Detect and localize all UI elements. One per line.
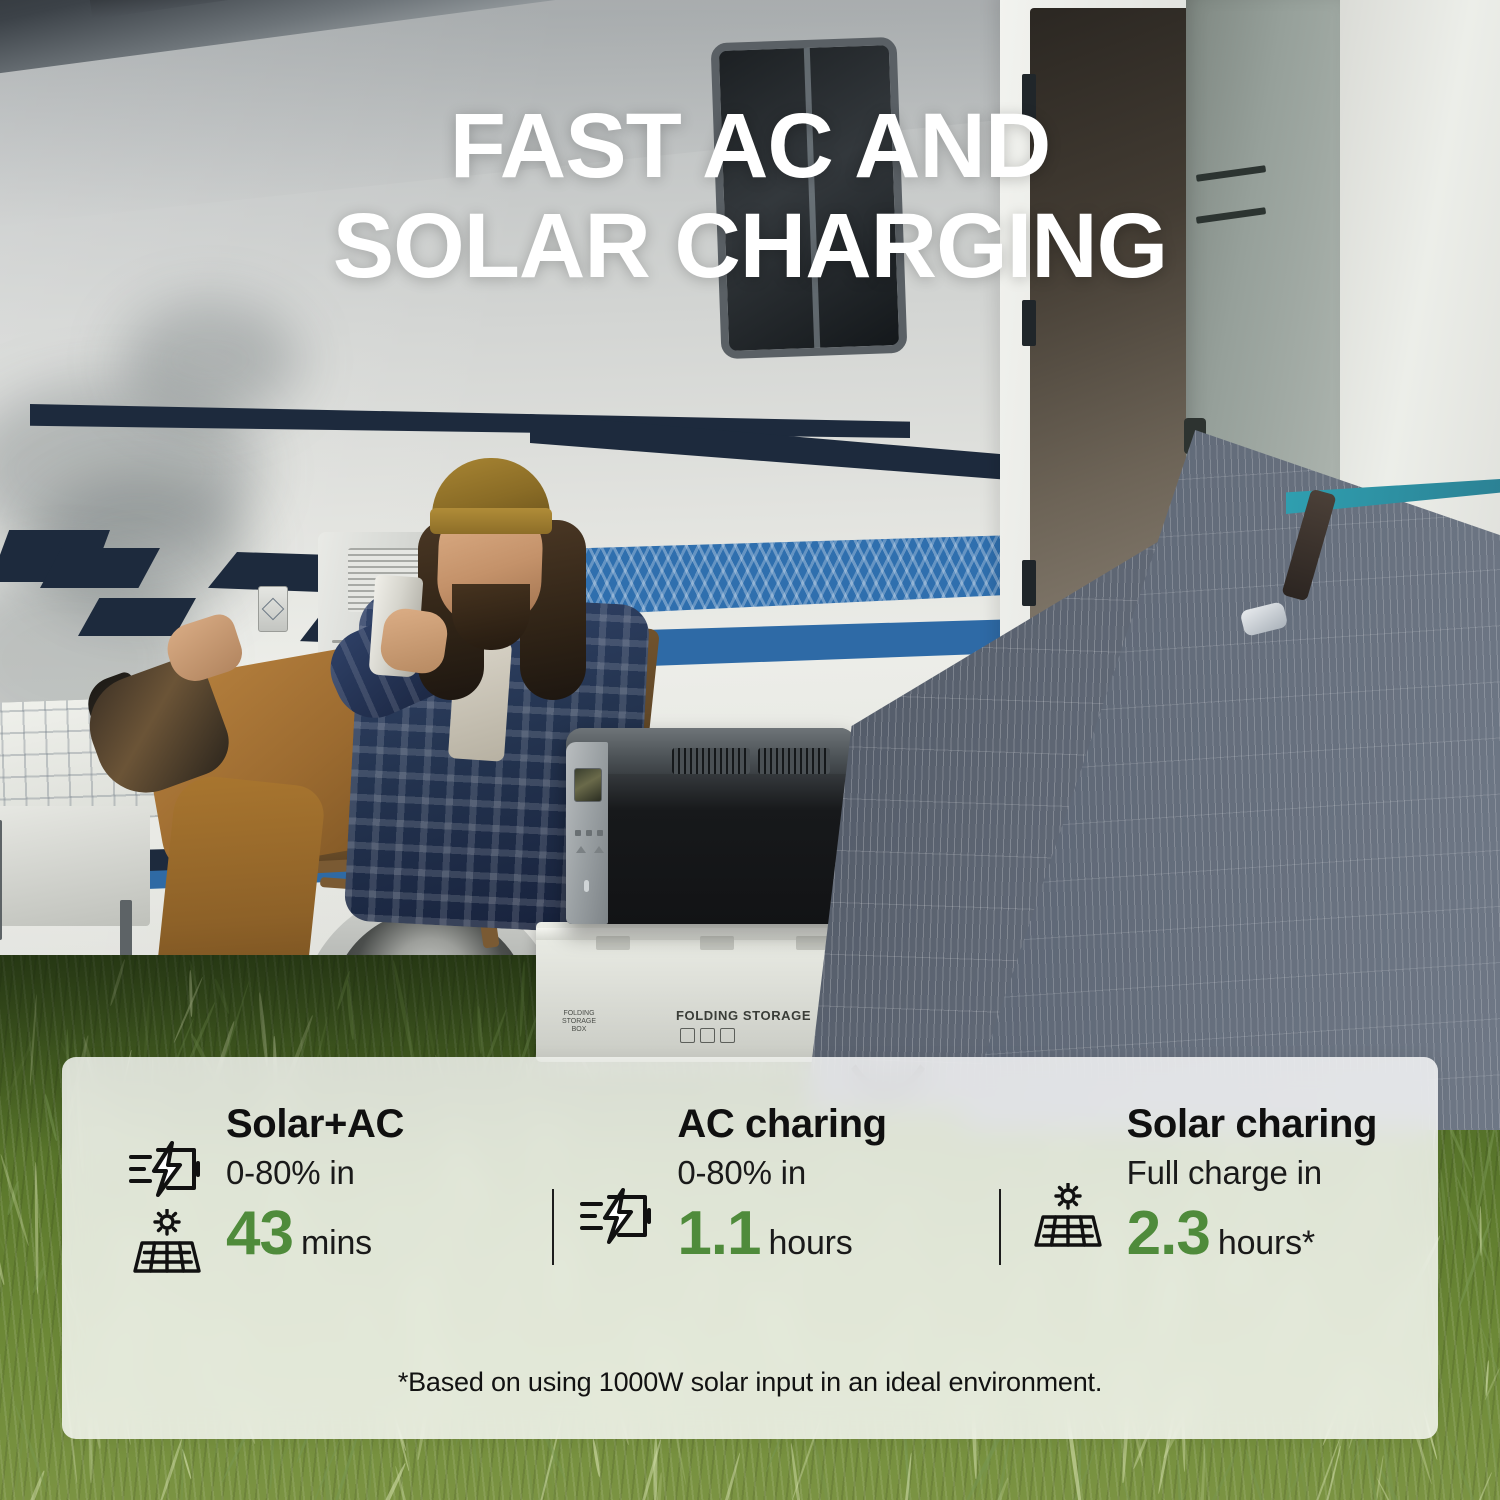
rv-door-hinge [1022,560,1036,606]
grass-blade [158,1438,183,1500]
stat-subtitle: 0-80% in [677,1147,988,1199]
grass-blade [13,1404,49,1494]
ac-charge-icon [579,1188,657,1244]
solar-panel-cable [826,840,950,1094]
stat-divider [999,1189,1001,1265]
grass-blade [810,1436,834,1500]
stat-subtitle: Full charge in [1127,1147,1438,1199]
grass-blade [526,1460,537,1500]
stat-solar-plus-ac: Solar+AC 0-80% in 43mins [62,1101,537,1285]
stat-title: Solar charing [1127,1101,1438,1147]
grass-blade [1245,1449,1277,1500]
stat-divider [552,1189,554,1265]
pictogram-icon [700,1028,715,1043]
grass-blade [394,1465,426,1500]
rv-door-hinge [1022,300,1036,346]
footnote: *Based on using 1000W solar input in an … [0,1367,1500,1398]
stat-solar-charging: Solar charing Full charge in 2.3hours* [989,1101,1438,1285]
storage-box-label: FOLDING STORAGE [676,1008,811,1023]
storage-box-side-label: FOLDING STORAGE BOX [556,1010,602,1034]
power-station-vent [758,748,830,774]
grass-blade [323,1468,333,1500]
table-leg [0,820,2,940]
grass-blade [706,1452,742,1500]
charging-stats-row: Solar+AC 0-80% in 43mins [62,1101,1438,1331]
product-marketing-image: FOLDING STORAGE BOX FOLDING STORAGE FAS [0,0,1500,1500]
power-station-lcd-display [574,768,602,802]
grass-blade [0,1186,5,1285]
stat-value-row: 43mins [226,1199,537,1285]
rv-wall-right-section [1340,0,1500,550]
storage-box-latch [796,936,830,950]
grass-blade [365,1439,374,1500]
power-station-arrow-icon [594,846,604,853]
grass-blade [1188,1447,1239,1500]
ac-charge-icon [128,1141,206,1197]
grass-blade [1119,1478,1163,1500]
stat-icon-group [579,1142,657,1244]
pictogram-icon [720,1028,735,1043]
grass-blade [0,1154,29,1246]
stat-text-group: Solar+AC 0-80% in 43mins [226,1101,537,1285]
stat-title: AC charing [677,1101,988,1147]
grass-blade [591,1438,600,1477]
storage-box-latch [596,936,630,950]
power-station-vent [672,748,750,774]
pictogram-icon [680,1028,695,1043]
power-station-button [597,830,603,836]
grass-blade [1136,1483,1191,1500]
rv-wall-badge [258,586,288,632]
storage-box-pictograms [680,1028,735,1043]
rv-window [711,37,908,359]
storage-box-latch [700,936,734,950]
stat-value: 1.1 [677,1199,760,1268]
beanie-hat-brim [430,508,552,534]
stat-subtitle: 0-80% in [226,1147,537,1199]
solar-panel-icon [128,1209,206,1275]
power-station-indicator [584,880,589,892]
person-hand-right [378,606,450,676]
stat-icon-group [1029,1137,1107,1249]
solar-panel-icon [1029,1183,1107,1249]
stat-unit: hours [769,1224,853,1262]
grass-blade [1439,1169,1450,1245]
stat-value-row: 2.3hours* [1127,1199,1438,1285]
stat-unit: hours* [1218,1224,1315,1262]
power-station-button [586,830,592,836]
stat-value: 2.3 [1127,1199,1210,1268]
rv-door-hinge [1022,74,1036,120]
grass-blade [1475,1121,1497,1218]
grass-blade [31,1264,47,1293]
power-station-button [575,830,581,836]
stat-value: 43 [226,1199,293,1268]
stat-unit: mins [301,1224,372,1262]
stat-title: Solar+AC [226,1101,537,1147]
stat-text-group: AC charing 0-80% in 1.1hours [677,1101,988,1285]
stat-text-group: Solar charing Full charge in 2.3hours* [1127,1101,1438,1285]
stat-icon-group [128,1111,206,1275]
power-station-arrow-icon [576,846,586,853]
stat-ac-charging: AC charing 0-80% in 1.1hours [537,1101,988,1285]
grass-blade [1444,1435,1483,1500]
grass-blade [15,1433,24,1493]
stat-value-row: 1.1hours [677,1199,988,1285]
grass-blade [1479,1206,1482,1256]
tree-shadow [120,300,300,420]
